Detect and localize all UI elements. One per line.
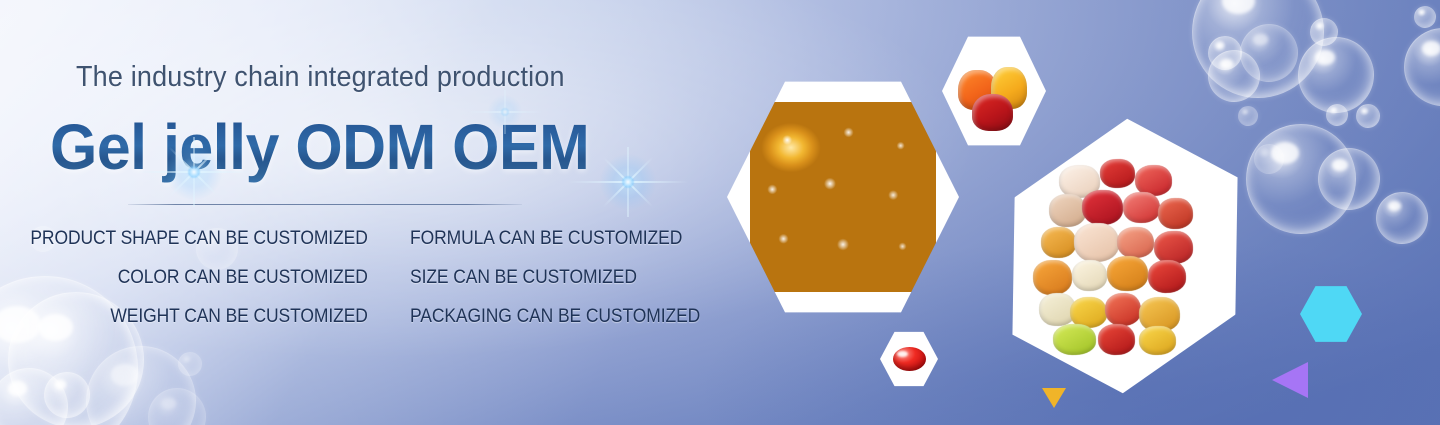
gummy-piece	[1082, 190, 1123, 225]
assorted-gummies-image	[1023, 153, 1228, 360]
gummy-piece	[1049, 194, 1086, 227]
gummy-piece	[1158, 198, 1193, 229]
bubble-decoration	[1318, 148, 1380, 210]
gummy-piece	[1100, 159, 1135, 188]
feature-item-left: WEIGHT CAN BE CUSTOMIZED	[111, 306, 368, 328]
bubble-decoration	[1238, 106, 1258, 126]
feature-item-left: COLOR CAN BE CUSTOMIZED	[118, 267, 368, 289]
bubble-decoration	[1414, 6, 1436, 28]
feature-row: COLOR CAN BE CUSTOMIZED SIZE CAN BE CUST…	[0, 267, 720, 306]
feature-list: PRODUCT SHAPE CAN BE CUSTOMIZED FORMULA …	[0, 228, 720, 345]
gummy-piece	[1041, 227, 1076, 258]
amber-triangle-decoration	[1042, 388, 1066, 408]
feature-item-right: FORMULA CAN BE CUSTOMIZED	[410, 228, 682, 250]
gummy-piece	[1074, 223, 1119, 262]
bubble-decoration	[44, 372, 90, 418]
feature-item-right: SIZE CAN BE CUSTOMIZED	[410, 267, 637, 289]
gummy-piece	[1107, 256, 1148, 291]
gummy-bears-image	[957, 51, 1032, 132]
gummy-bear-red	[972, 94, 1014, 131]
gummy-piece	[1139, 326, 1176, 355]
gummy-piece	[1105, 293, 1142, 326]
feature-item-right: PACKAGING CAN BE CUSTOMIZED	[410, 306, 700, 328]
bubble-decoration	[1356, 104, 1380, 128]
gummy-piece	[1148, 260, 1187, 293]
gummy-piece	[1123, 192, 1160, 223]
gummy-piece	[1033, 260, 1072, 295]
bubble-decoration	[1298, 37, 1374, 113]
bubble-decoration	[178, 352, 202, 376]
gummy-piece	[1098, 324, 1135, 355]
gummy-piece	[1053, 324, 1096, 355]
feature-item-left: PRODUCT SHAPE CAN BE CUSTOMIZED	[31, 228, 368, 250]
purple-triangle-decoration	[1272, 362, 1308, 398]
headline-divider	[128, 204, 522, 205]
bubble-decoration	[1376, 192, 1428, 244]
feature-row: PRODUCT SHAPE CAN BE CUSTOMIZED FORMULA …	[0, 228, 720, 267]
softgel-capsules-image	[750, 102, 936, 292]
gummy-piece	[1154, 231, 1193, 264]
gummy-piece	[1072, 260, 1107, 291]
bubble-decoration	[1240, 24, 1298, 82]
banner-subtitle: The industry chain integrated production	[76, 61, 565, 94]
banner-headline: Gel jelly ODM OEM	[50, 110, 589, 184]
bubble-decoration	[1254, 144, 1284, 174]
promo-banner: The industry chain integrated production…	[0, 0, 1440, 425]
bubble-decoration	[1326, 104, 1348, 126]
feature-row: WEIGHT CAN BE CUSTOMIZED PACKAGING CAN B…	[0, 306, 720, 345]
red-capsule-image	[893, 347, 927, 372]
gummy-piece	[1117, 227, 1154, 258]
